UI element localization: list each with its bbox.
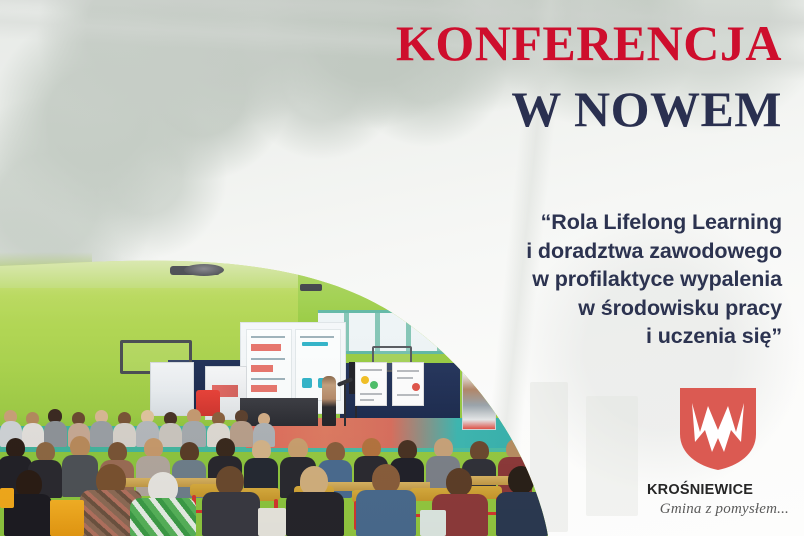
flipchart-right — [392, 362, 424, 406]
headline-line-2: W NOWEM — [396, 84, 782, 134]
ceiling-lamp-icon — [184, 264, 224, 276]
audience-group — [0, 408, 548, 536]
conference-poster: KONFERENCJA W NOWEM “Rola Lifelong Learn… — [0, 0, 804, 536]
flipchart-left — [355, 362, 387, 406]
krosniewice-logo: KROŚNIEWICE Gmina z pomysłem... — [645, 386, 793, 526]
slide-left — [246, 329, 292, 401]
subtitle-quote: “Rola Lifelong Learning i doradztwa zawo… — [442, 208, 782, 351]
ceiling-duct-b — [300, 284, 322, 291]
page-title: KONFERENCJA W NOWEM — [396, 18, 782, 134]
subtitle-line-1: “Rola Lifelong Learning — [442, 208, 782, 237]
subtitle-line-5: i uczenia się” — [442, 322, 782, 351]
subtitle-line-4: w środowisku pracy — [442, 294, 782, 323]
logo-tagline: Gmina z pomysłem... — [660, 501, 789, 518]
krosniewice-coat-of-arms-shield-icon — [678, 386, 758, 472]
background-shape-c — [586, 396, 638, 516]
subtitle-line-3: w profilaktyce wypalenia — [442, 265, 782, 294]
logo-municipality-name: KROŚNIEWICE — [647, 482, 753, 498]
subtitle-line-2: i doradztwa zawodowego — [442, 237, 782, 266]
headline-line-1: KONFERENCJA — [396, 18, 782, 68]
